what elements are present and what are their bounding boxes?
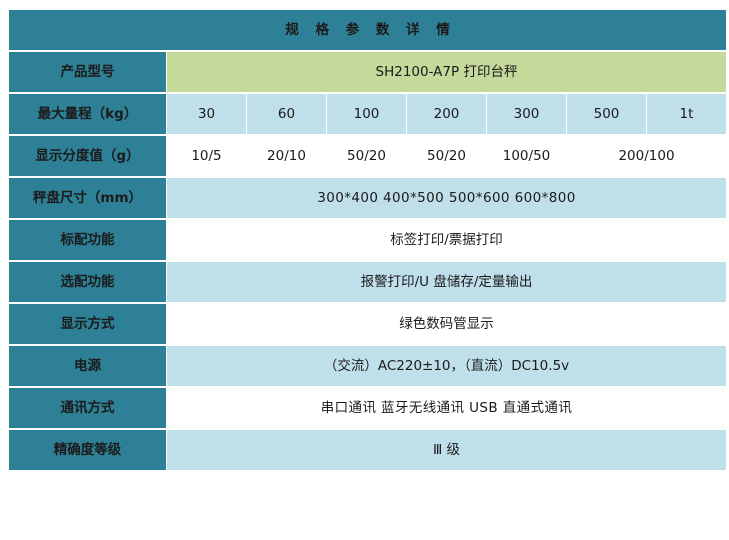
- table-row-title: 规 格 参 数 详 情: [9, 10, 726, 50]
- row-label-division-value: 显示分度值（g）: [9, 136, 166, 176]
- capacity-cell-6: 500: [567, 94, 646, 134]
- division-cell-6: 200/100: [567, 136, 726, 176]
- row-value-optional-features: 报警打印/U 盘储存/定量输出: [167, 262, 726, 302]
- division-cell-1: 10/5: [167, 136, 246, 176]
- table-row: 选配功能 报警打印/U 盘储存/定量输出: [9, 262, 726, 302]
- row-label-communication: 通讯方式: [9, 388, 166, 428]
- row-label-product-model: 产品型号: [9, 52, 166, 92]
- table-row: 标配功能 标签打印/票据打印: [9, 220, 726, 260]
- row-value-accuracy-class: Ⅲ 级: [167, 430, 726, 470]
- table-body: 规 格 参 数 详 情 产品型号 SH2100-A7P 打印台秤 最大量程（kg…: [9, 10, 726, 470]
- division-cell-4: 50/20: [407, 136, 486, 176]
- table-row: 电源 （交流）AC220±10，（直流）DC10.5v: [9, 346, 726, 386]
- row-value-platform-size: 300*400 400*500 500*600 600*800: [167, 178, 726, 218]
- table-row: 通讯方式 串口通讯 蓝牙无线通讯 USB 直通式通讯: [9, 388, 726, 428]
- row-value-product-model: SH2100-A7P 打印台秤: [167, 52, 726, 92]
- capacity-cell-2: 60: [247, 94, 326, 134]
- capacity-cell-7: 1t: [647, 94, 726, 134]
- table-row: 最大量程（kg） 30 60 100 200 300 500 1t: [9, 94, 726, 134]
- capacity-cell-5: 300: [487, 94, 566, 134]
- table-row: 显示方式 绿色数码管显示: [9, 304, 726, 344]
- row-label-standard-features: 标配功能: [9, 220, 166, 260]
- row-label-power-supply: 电源: [9, 346, 166, 386]
- row-label-max-capacity: 最大量程（kg）: [9, 94, 166, 134]
- table-row: 精确度等级 Ⅲ 级: [9, 430, 726, 470]
- division-cell-2: 20/10: [247, 136, 326, 176]
- row-value-standard-features: 标签打印/票据打印: [167, 220, 726, 260]
- row-label-accuracy-class: 精确度等级: [9, 430, 166, 470]
- table-row: 产品型号 SH2100-A7P 打印台秤: [9, 52, 726, 92]
- row-value-power-supply: （交流）AC220±10，（直流）DC10.5v: [167, 346, 726, 386]
- capacity-cell-4: 200: [407, 94, 486, 134]
- row-label-display-type: 显示方式: [9, 304, 166, 344]
- row-value-communication: 串口通讯 蓝牙无线通讯 USB 直通式通讯: [167, 388, 726, 428]
- row-label-optional-features: 选配功能: [9, 262, 166, 302]
- row-value-display-type: 绿色数码管显示: [167, 304, 726, 344]
- capacity-cell-3: 100: [327, 94, 406, 134]
- table-row: 显示分度值（g） 10/5 20/10 50/20 50/20 100/50 2…: [9, 136, 726, 176]
- specification-table: 规 格 参 数 详 情 产品型号 SH2100-A7P 打印台秤 最大量程（kg…: [8, 8, 727, 472]
- row-label-platform-size: 秤盘尺寸（mm）: [9, 178, 166, 218]
- division-cell-5: 100/50: [487, 136, 566, 176]
- division-cell-3: 50/20: [327, 136, 406, 176]
- table-row: 秤盘尺寸（mm） 300*400 400*500 500*600 600*800: [9, 178, 726, 218]
- capacity-cell-1: 30: [167, 94, 246, 134]
- spec-sheet: 规 格 参 数 详 情 产品型号 SH2100-A7P 打印台秤 最大量程（kg…: [8, 8, 720, 472]
- page-title: 规 格 参 数 详 情: [9, 10, 726, 50]
